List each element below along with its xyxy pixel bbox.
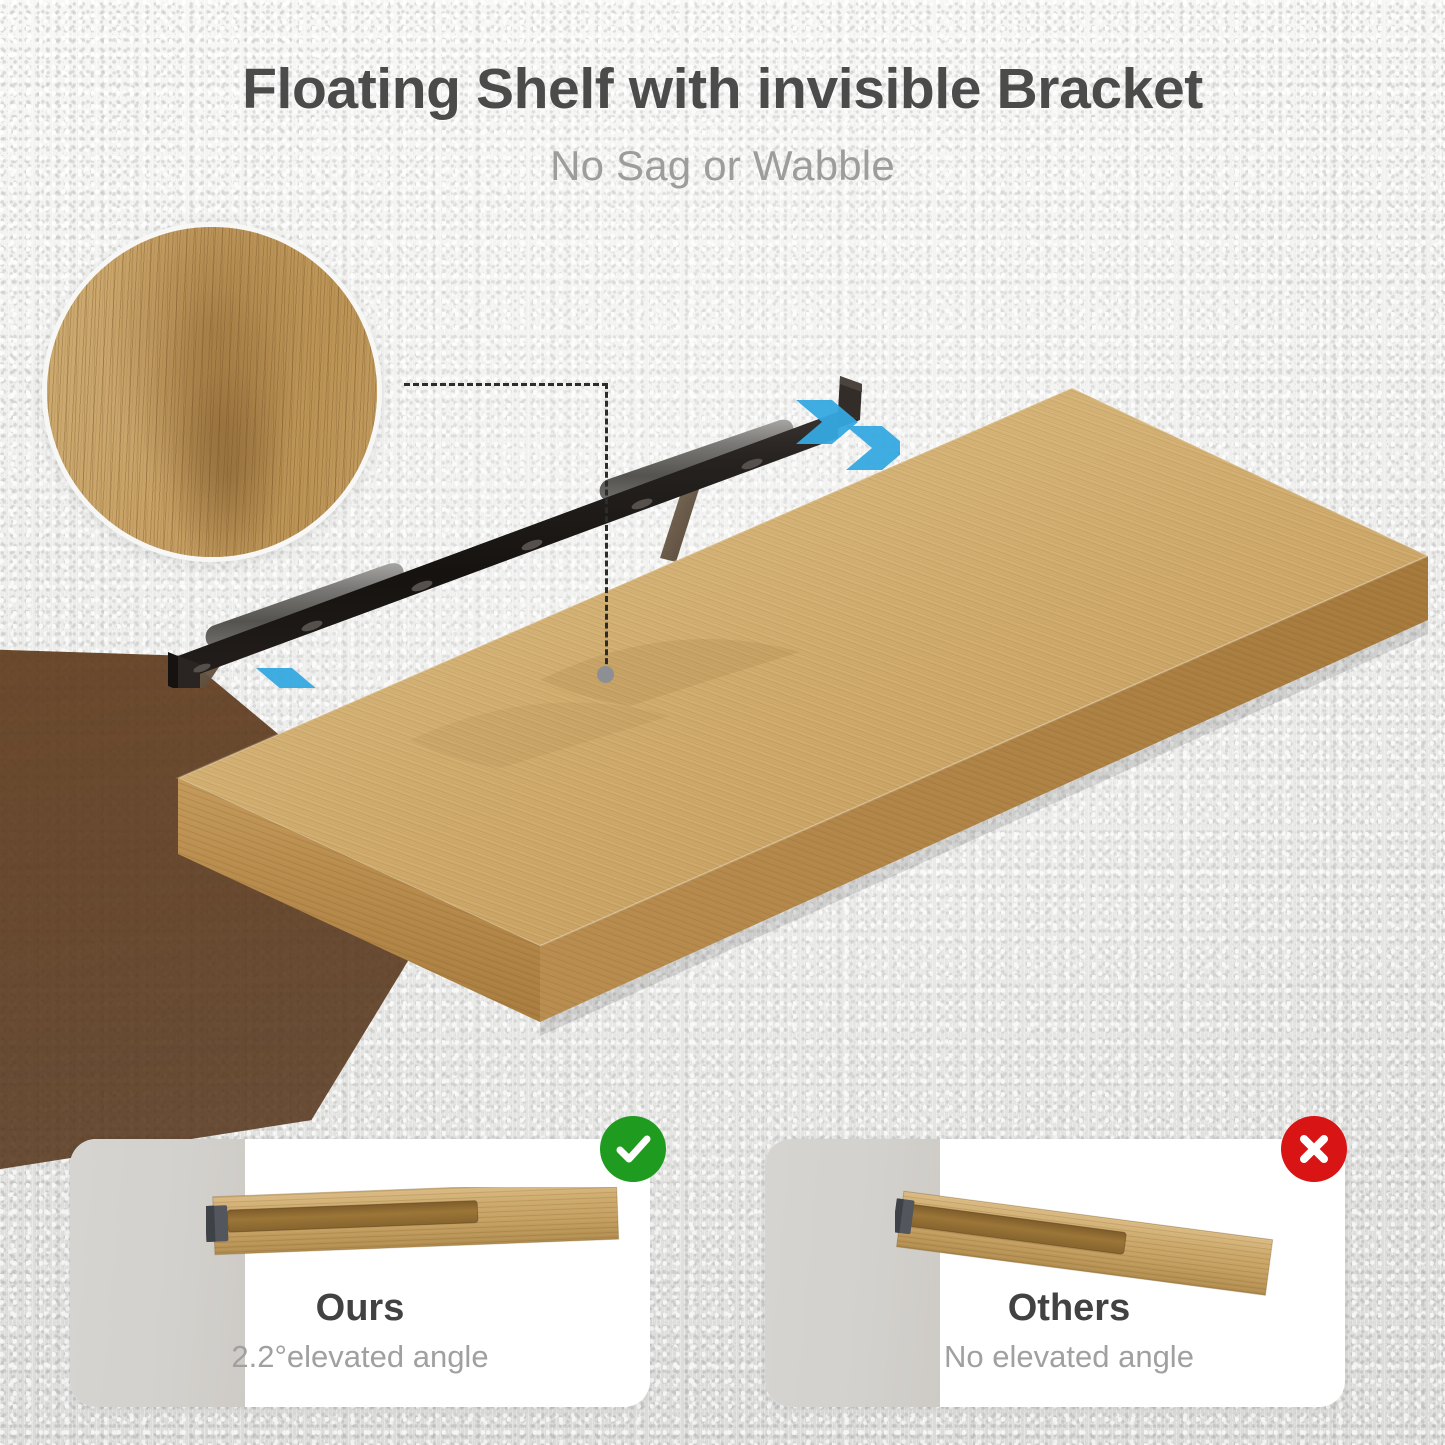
shelf-profile-ours <box>206 1187 626 1273</box>
comparison-card-others: Others No elevated angle <box>765 1139 1345 1407</box>
card-subtitle-ours: 2.2°elevated angle <box>70 1339 650 1375</box>
page-subtitle: No Sag or Wabble <box>0 142 1445 190</box>
callout-line-horizontal <box>404 383 608 386</box>
callout-anchor-dot <box>597 666 614 683</box>
comparison-section: Ours 2.2°elevated angle <box>0 1135 1445 1415</box>
wood-grain-texture <box>42 222 382 562</box>
wood-grain-detail-circle <box>42 222 382 562</box>
card-title-others: Others <box>793 1287 1345 1330</box>
comparison-card-ours: Ours 2.2°elevated angle <box>70 1139 650 1407</box>
header: Floating Shelf with invisible Bracket No… <box>0 60 1445 190</box>
callout-line-vertical <box>605 383 608 673</box>
card-title-ours: Ours <box>70 1287 650 1330</box>
cross-icon <box>1281 1116 1347 1182</box>
check-icon <box>600 1116 666 1182</box>
product-infographic: Floating Shelf with invisible Bracket No… <box>0 0 1445 1445</box>
card-subtitle-others: No elevated angle <box>793 1339 1345 1375</box>
page-title: Floating Shelf with invisible Bracket <box>0 60 1445 120</box>
